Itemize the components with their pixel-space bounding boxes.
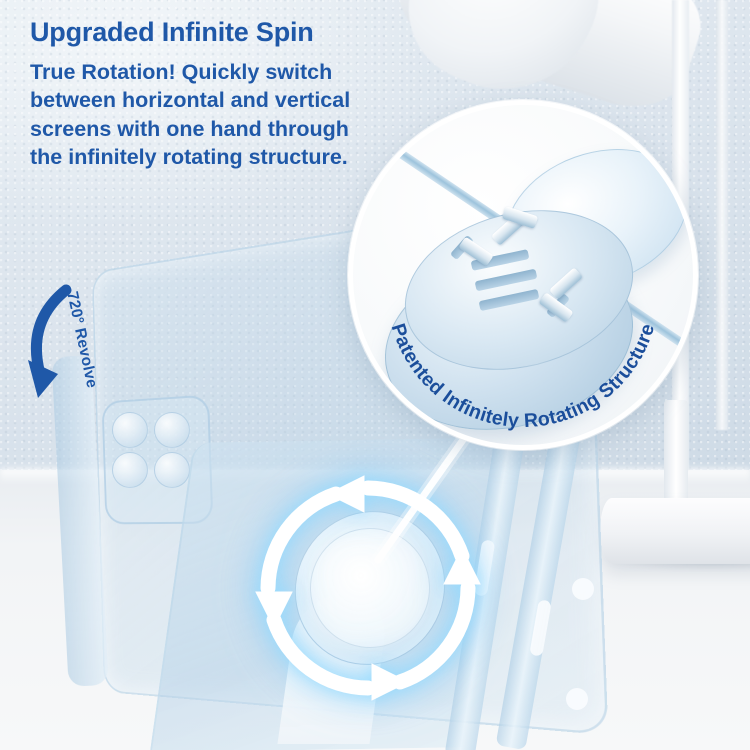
magnifier-arc-caption: Patented Infinitely Rotating Structure: [353, 105, 693, 445]
feature-description: True Rotation! Quickly switch between ho…: [30, 58, 380, 172]
port-cutout: [572, 578, 594, 600]
rotation-graphic: [252, 472, 484, 704]
desk-lamp-base: [600, 498, 750, 564]
camera-lens: [154, 452, 190, 488]
page-title: Upgraded Infinite Spin: [30, 18, 314, 48]
product-feature-banner: Patented Infinitely Rotating Structure U…: [0, 0, 750, 750]
magnifier-callout: Patented Infinitely Rotating Structure: [348, 100, 698, 450]
svg-text:Patented Infinitely Rotating S: Patented Infinitely Rotating Structure: [387, 321, 660, 432]
camera-lens: [112, 412, 148, 448]
desk-lamp-pole-secondary: [716, 0, 728, 430]
rotation-arrow-icon: [252, 472, 484, 704]
port-cutout: [566, 688, 588, 710]
arc-caption-text: Patented Infinitely Rotating Structure: [387, 321, 660, 432]
camera-lens: [112, 452, 148, 488]
camera-lens: [154, 412, 190, 448]
revolve-badge: 720° Revolve: [24, 282, 136, 410]
